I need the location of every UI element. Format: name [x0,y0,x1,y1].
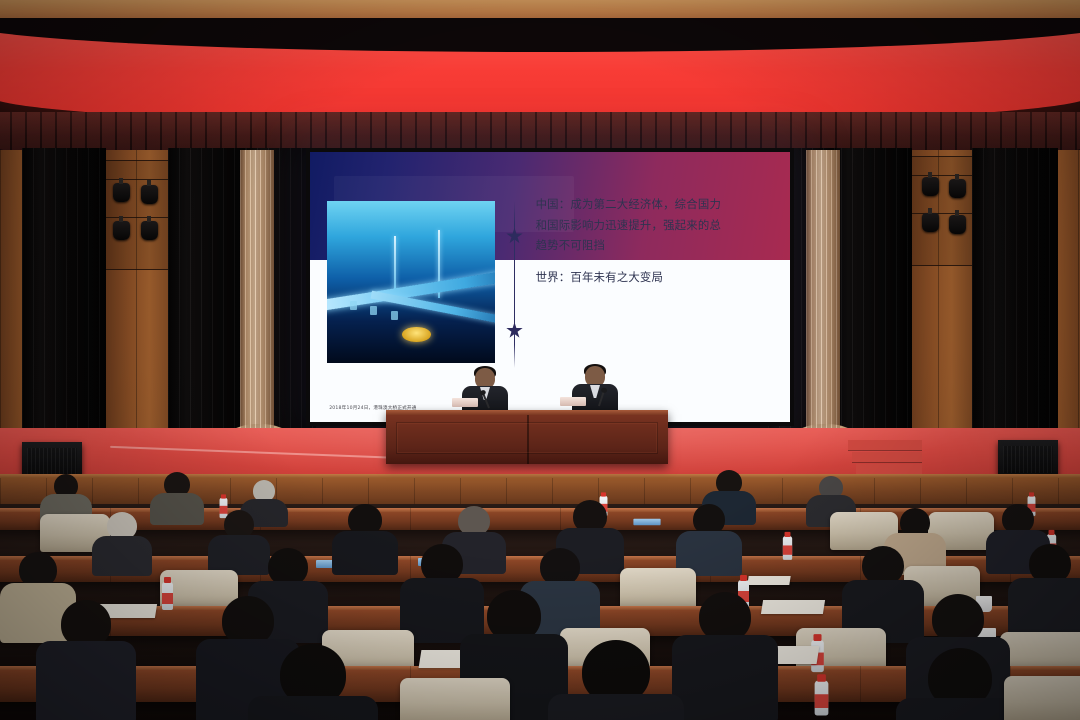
attendee [150,472,204,524]
slide-divider-line [514,201,515,368]
stage-light-icon [113,183,130,202]
bridge-artificial-island [402,327,431,342]
projection-screen: 2018年10月24日，港珠澳大桥正式开通 中国：成为第二大经济体，综合国力 和… [306,148,794,426]
bridge-pier [391,311,398,320]
head-table [386,410,668,464]
bridge-pier [350,301,357,310]
tablet-display [633,519,660,525]
slide-bullet1-line2: 和国际影响力迅速提升，强起来的总 [536,216,776,234]
slide-text-block: 中国：成为第二大经济体，综合国力 和国际影响力迅速提升，强起来的总 趋势不可阻挡… [536,195,776,288]
speaker-right [572,366,618,414]
slide-bullet1-line1: 中国：成为第二大经济体，综合国力 [536,195,776,213]
stage-light-icon [141,221,158,240]
stage-curtain-black-left-outer [22,148,106,450]
audience-chair [1004,676,1080,720]
stage-light-icon [113,221,130,240]
attendee [1008,544,1080,642]
audience-chair [400,678,510,720]
conference-hall-scene: 2018年10月24日，港珠澳大桥正式开通 中国：成为第二大经济体，综合国力 和… [0,0,1080,720]
presentation-slide: 2018年10月24日，港珠澳大桥正式开通 中国：成为第二大经济体，综合国力 和… [310,152,790,422]
bridge-deck-secondary [371,291,495,326]
nameplate-right [560,397,586,406]
stage-drape-tan-right [806,150,840,450]
head-table-inset-panel [396,422,658,454]
attendee [92,512,152,574]
bridge-photo [327,201,495,363]
stage-light-icon [922,213,939,232]
bridge-pier [370,306,377,315]
stage-light-icon [949,179,966,198]
attendee [36,600,136,720]
stage-drape-tan-left [240,150,274,450]
attendee [676,504,742,576]
attendee-foreground [548,640,684,720]
attendee [672,592,778,720]
stage-curtain-black-right-outer [972,148,1058,450]
bridge-pylon [394,236,396,291]
light-truss-left [100,160,170,270]
light-truss-right [910,156,980,266]
stage-light-icon [922,177,939,196]
slide-bullet2-line1: 世界：百年未有之大变局 [536,268,776,286]
stage-light-icon [949,215,966,234]
water-bottle [162,582,173,610]
paper-document [747,576,790,585]
water-bottle [815,681,829,716]
nameplate-left [452,398,478,407]
stage-light-icon [141,185,158,204]
slide-bullet1-line3: 趋势不可阻挡 [536,236,776,254]
attendee-foreground [248,644,378,720]
water-bottle [783,536,792,560]
stage-curtain-black-right-inner [830,148,912,448]
attendee [332,504,398,574]
